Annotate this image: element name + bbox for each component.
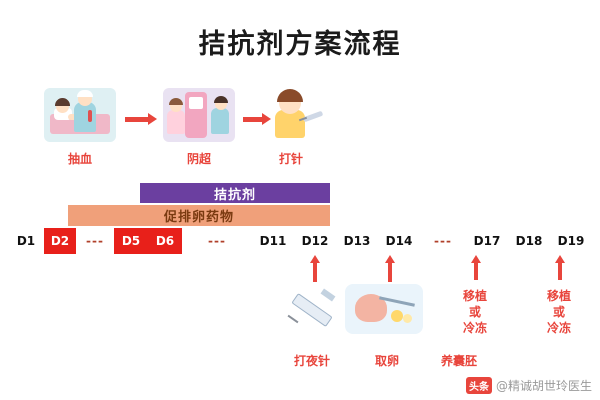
timeline-day-d6[interactable]: D6 [148, 228, 182, 254]
bar-antagonist: 拮抗剂 [140, 183, 330, 203]
illustration-egg-retrieval [345, 284, 423, 334]
illustration-blood-draw [44, 88, 116, 142]
caption-blood-draw: 抽血 [35, 150, 125, 167]
timeline-day-d1[interactable]: D1 [8, 228, 44, 254]
timeline-day-d5[interactable]: D5 [114, 228, 148, 254]
timeline-day-d19[interactable]: D19 [550, 228, 592, 254]
timeline-day-d13[interactable]: D13 [336, 228, 378, 254]
label-egg-retrieval: 取卵 [352, 353, 422, 369]
timeline-day-d18[interactable]: D18 [508, 228, 550, 254]
bar-ovulation-drugs: 促排卵药物 [68, 205, 330, 226]
timeline-day-d12[interactable]: D12 [294, 228, 336, 254]
caption-injection: 打针 [246, 150, 336, 167]
timeline-day-d17[interactable]: D17 [466, 228, 508, 254]
label-d17-options: 移植 或 冷冻 [440, 288, 510, 336]
page-title: 拮抗剂方案流程 [0, 22, 600, 61]
timeline-gap-d6-d11: --- [182, 228, 252, 254]
diagram-root: 拮抗剂方案流程 抽血 阴超 打针 拮抗剂 促排卵药物 [0, 0, 600, 400]
timeline-gap-d14-d17: --- [420, 228, 466, 254]
timeline-day-d14[interactable]: D14 [378, 228, 420, 254]
caption-ultrasound: 阴超 [154, 150, 244, 167]
timeline-day-d11[interactable]: D11 [252, 228, 294, 254]
timeline-day-d2[interactable]: D2 [44, 228, 76, 254]
label-d19-options: 移植 或 冷冻 [524, 288, 594, 336]
illustration-syringe [283, 286, 347, 332]
label-blastocyst-culture: 养囊胚 [420, 353, 498, 369]
illustration-ultrasound [163, 88, 235, 142]
label-night-injection: 打夜针 [272, 353, 352, 369]
timeline-gap-d2-d5: --- [76, 228, 114, 254]
toutiao-badge: 头条 [466, 377, 492, 394]
watermark: 头条 @精诚胡世玲医生 [466, 377, 592, 394]
watermark-text: @精诚胡世玲医生 [496, 377, 592, 394]
